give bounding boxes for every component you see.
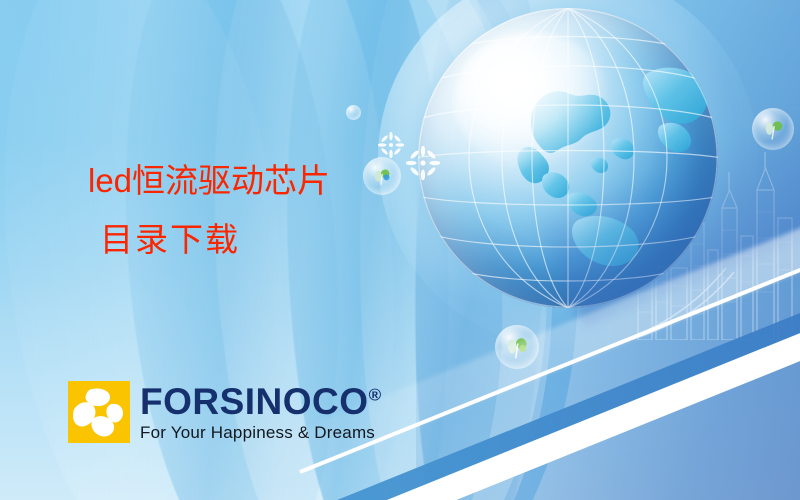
sparkle-burst-1 xyxy=(378,132,404,158)
brand-tagline: For Your Happiness & Dreams xyxy=(140,423,382,443)
headline-line-2: 目录下载 xyxy=(100,223,330,256)
forsinoco-logo[interactable]: FORSINOCO® For Your Happiness & Dreams xyxy=(68,381,382,443)
registered-trademark-icon: ® xyxy=(369,386,382,405)
sparkle-burst-2 xyxy=(406,146,440,180)
brand-name-text: FORSINOCO xyxy=(140,381,369,422)
bubble-seed-1 xyxy=(363,157,401,195)
banner-root: led恒流驱动芯片 目录下载 FORSINOCO® For Your Happi… xyxy=(0,0,800,500)
headline-text: led恒流驱动芯片 目录下载 xyxy=(88,164,330,256)
bubble-seed-4 xyxy=(346,105,361,120)
logo-text-block: FORSINOCO® For Your Happiness & Dreams xyxy=(140,381,382,443)
brand-name: FORSINOCO® xyxy=(140,383,382,420)
forsinoco-pinwheel-mark-icon xyxy=(68,381,130,443)
headline-line-1: led恒流驱动芯片 xyxy=(88,164,330,197)
